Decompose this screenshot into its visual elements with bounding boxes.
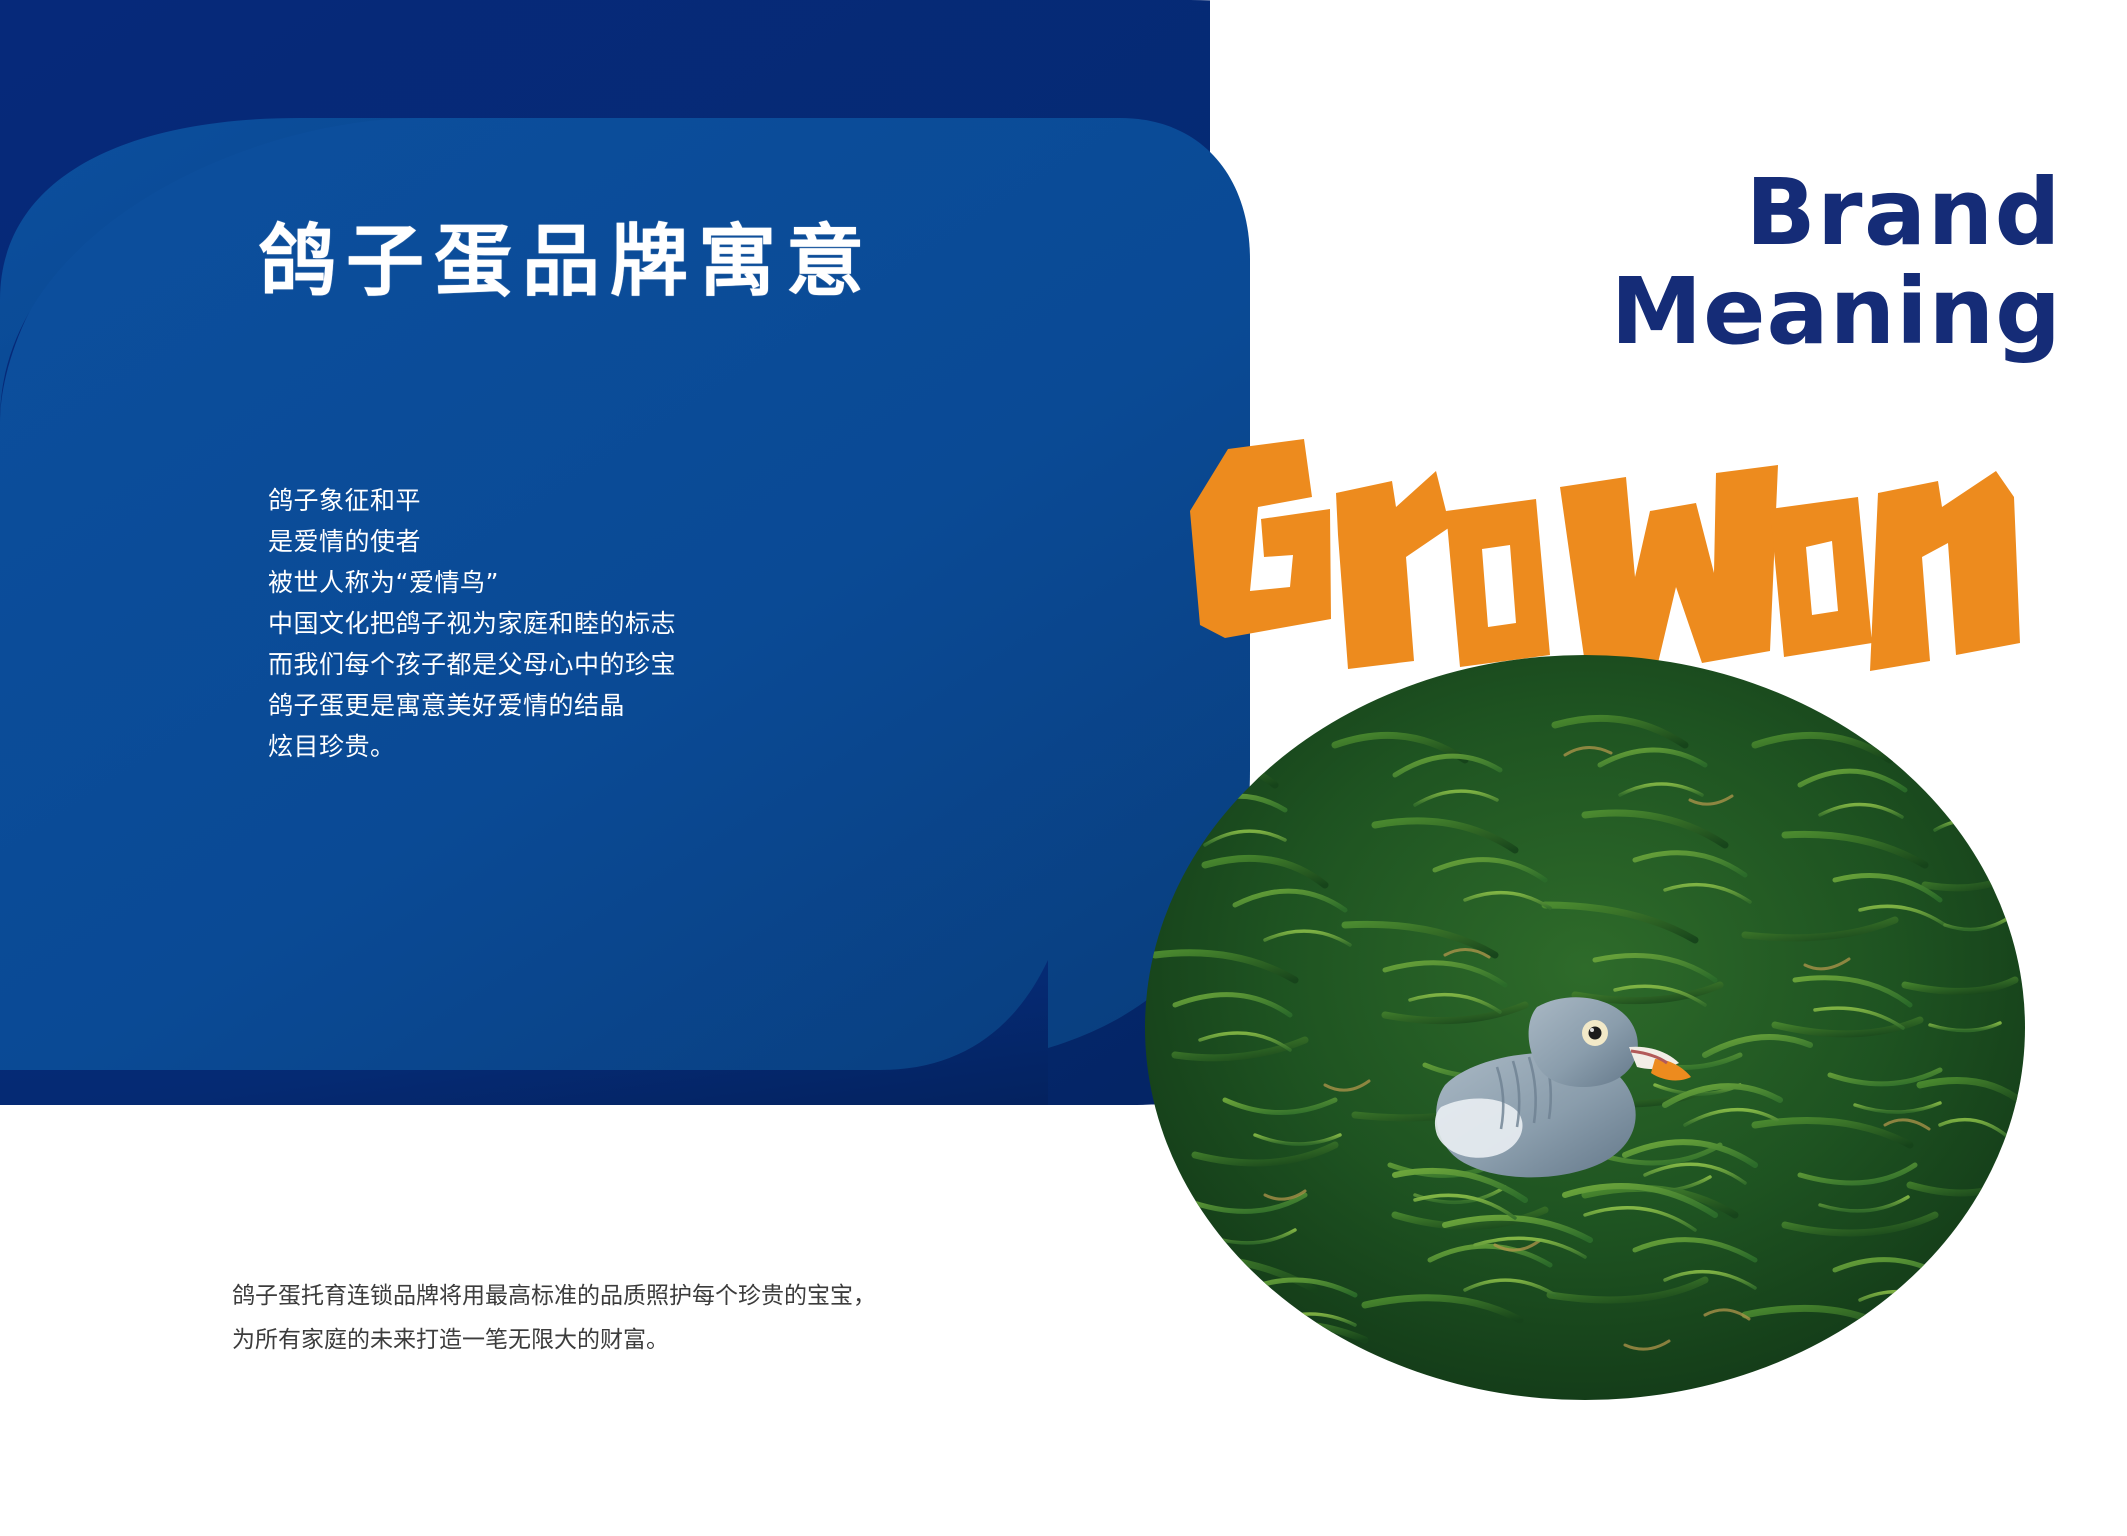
page-title: 鸽子蛋品牌寓意 (258, 222, 1088, 304)
footer-note: 鸽子蛋托育连锁品牌将用最高标准的品质照护每个珍贵的宝宝， 为所有家庭的未来打造一… (232, 1274, 932, 1362)
brand-heading-line1: Brand (1611, 163, 2062, 262)
pigeon-photo (1145, 655, 2025, 1400)
title-wrap: 鸽子蛋品牌寓意 (258, 222, 1088, 304)
poem-line: 中国文化把鸽子视为家庭和睦的标志 (268, 603, 888, 644)
footer-note-line: 鸽子蛋托育连锁品牌将用最高标准的品质照护每个珍贵的宝宝， (232, 1274, 932, 1318)
poem-line: 炫目珍贵。 (268, 726, 888, 767)
growon-logo-letters (1190, 439, 2020, 671)
slide-canvas: 鸽子蛋品牌寓意 鸽子象征和平 是爱情的使者 被世人称为“爱情鸟” 中国文化把鸽子… (0, 0, 2127, 1536)
poem-line: 被世人称为“爱情鸟” (268, 562, 888, 603)
brand-heading-line2: Meaning (1611, 262, 2062, 361)
footer-note-line: 为所有家庭的未来打造一笔无限大的财富。 (232, 1318, 932, 1362)
poem-line: 鸽子象征和平 (268, 480, 888, 521)
poem-line: 鸽子蛋更是寓意美好爱情的结晶 (268, 685, 888, 726)
brand-meaning-poem: 鸽子象征和平 是爱情的使者 被世人称为“爱情鸟” 中国文化把鸽子视为家庭和睦的标… (268, 480, 888, 767)
brand-meaning-heading: Brand Meaning (1611, 163, 2062, 362)
poem-line: 是爱情的使者 (268, 521, 888, 562)
poem-line: 而我们每个孩子都是父母心中的珍宝 (268, 644, 888, 685)
